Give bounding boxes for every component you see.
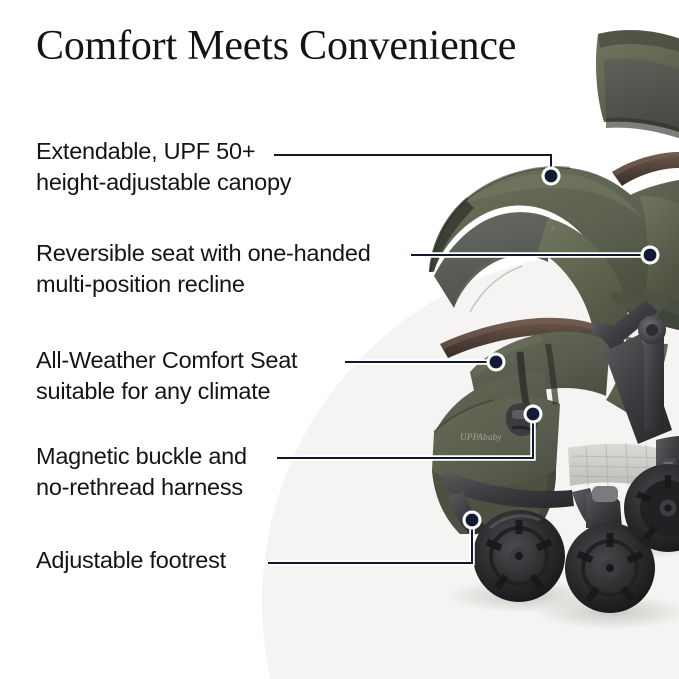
callout-dot-comfort-seat (490, 356, 503, 369)
feature-line-1: Adjustable footrest (36, 545, 226, 576)
page-title: Comfort Meets Convenience (36, 22, 516, 70)
feature-line-2: suitable for any climate (36, 376, 297, 407)
callout-dot-buckle (527, 408, 540, 421)
feature-label-extendable-canopy: Extendable, UPF 50+ height-adjustable ca… (36, 136, 291, 199)
feature-line-2: height-adjustable canopy (36, 167, 291, 198)
infographic-canvas: UPPAbaby (0, 0, 679, 679)
feature-line-1: Magnetic buckle and (36, 441, 247, 472)
feature-line-2: multi-position recline (36, 269, 371, 300)
feature-line-2: no-rethread harness (36, 472, 247, 503)
leader-line-canopy (274, 155, 551, 176)
callout-dot-canopy (545, 170, 558, 183)
feature-line-1: Extendable, UPF 50+ (36, 136, 291, 167)
feature-line-1: Reversible seat with one-handed (36, 238, 371, 269)
callout-dot-seat (644, 249, 657, 262)
feature-label-reversible-seat: Reversible seat with one-handed multi-po… (36, 238, 371, 301)
callout-dots (463, 167, 660, 530)
leader-line-footrest (268, 520, 472, 563)
feature-label-adjustable-footrest: Adjustable footrest (36, 545, 226, 576)
feature-line-1: All-Weather Comfort Seat (36, 345, 297, 376)
feature-label-magnetic-buckle: Magnetic buckle and no-rethread harness (36, 441, 247, 504)
feature-label-all-weather-comfort-seat: All-Weather Comfort Seat suitable for an… (36, 345, 297, 408)
leader-line-buckle (277, 414, 533, 458)
callout-dot-footrest (466, 514, 479, 527)
callout-leader-lines (0, 0, 679, 679)
